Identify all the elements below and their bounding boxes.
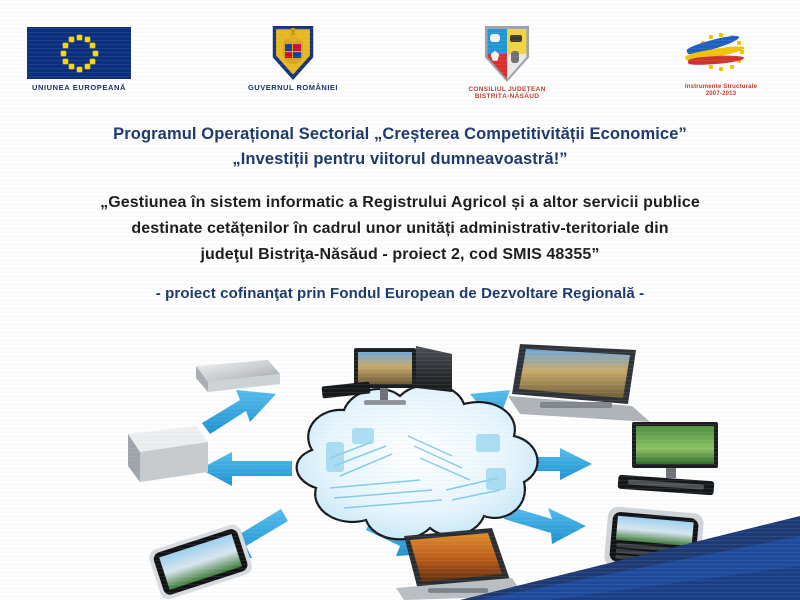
romanian-coat-of-arms-icon (270, 26, 316, 80)
project-title: „Gestiunea în sistem informatic a Regist… (0, 190, 800, 268)
logo-government-romania: GUVERNUL ROMÂNIEI (218, 26, 368, 93)
eu-star (77, 35, 82, 40)
cofinancing-note: - proiect cofinanţat prin Fondul Europea… (0, 285, 800, 302)
project-title-line1: „Gestiunea în sistem informatic a Regist… (0, 190, 800, 216)
eu-star (61, 51, 66, 56)
device-laptop-top-right (508, 344, 650, 422)
structural-star (730, 65, 734, 69)
logo-county-caption-line2: BISTRIȚA-NĂSĂUD (468, 93, 545, 100)
quarter-4 (293, 52, 301, 59)
county-charge-figure (511, 51, 519, 63)
structural-star (709, 65, 713, 69)
eu-star (93, 51, 98, 56)
eu-star (69, 64, 74, 69)
logo-government-caption: GUVERNUL ROMÂNIEI (248, 84, 338, 93)
eu-star (77, 67, 82, 72)
arrow-left (200, 452, 292, 486)
quarter-3 (285, 52, 293, 59)
logo-eu: UNIUNEA EUROPEANĂ (4, 26, 154, 93)
device-external-drive (196, 360, 280, 392)
logo-structural-caption-line1: Instrumente Structurale (685, 84, 757, 91)
arms-quarters (285, 44, 302, 58)
eu-star (63, 59, 68, 64)
arrow-up-left (202, 390, 276, 434)
device-smartphone-left (147, 522, 254, 600)
quarter-2 (293, 44, 301, 51)
eu-flag-icon (26, 26, 132, 80)
county-charge-bridge (490, 34, 501, 42)
logo-structural-instruments: Instrumente Structurale 2007-2013 (646, 26, 796, 98)
eu-star (69, 37, 74, 42)
logo-structural-caption-line2: 2007-2013 (685, 91, 757, 98)
eu-star (90, 59, 95, 64)
programme-title-line2: „Investiții pentru viitorul dumneavoastr… (0, 147, 800, 172)
programme-title: Programul Operațional Sectorial „Creșter… (0, 122, 800, 172)
structural-star (709, 35, 713, 39)
county-charge-wheat (510, 35, 522, 42)
programme-title-line1: Programul Operațional Sectorial „Creșter… (0, 122, 800, 147)
logo-county-council: CONSILIUL JUDEȚEAN BISTRIȚA-NĂSĂUD (432, 26, 582, 101)
corner-band (460, 480, 800, 600)
project-title-line3: judeţul Bistriţa-Năsăud - proiect 2, cod… (0, 242, 800, 268)
logo-county-caption: CONSILIUL JUDEȚEAN BISTRIȚA-NĂSĂUD (468, 86, 545, 101)
project-title-line2: destinate cetățenilor în cadrul unor uni… (0, 216, 800, 242)
logo-eu-caption: UNIUNEA EUROPEANĂ (32, 84, 126, 93)
bistrita-nasaud-county-shield-icon (483, 26, 531, 82)
structural-star (737, 41, 741, 45)
device-server-box (128, 426, 208, 482)
eu-star (85, 37, 90, 42)
quarter-1 (285, 44, 293, 51)
eu-star (90, 43, 95, 48)
structural-instruments-swoosh-icon (673, 26, 769, 80)
eu-star (85, 64, 90, 69)
logo-structural-caption: Instrumente Structurale 2007-2013 (685, 84, 757, 98)
structural-star (719, 67, 723, 71)
eu-star (63, 43, 68, 48)
slide-root: UNIUNEA EUROPEANĂ GUVERNUL ROMÂNIEI (0, 0, 800, 600)
eagle-cross (291, 28, 295, 34)
logo-bar: UNIUNEA EUROPEANĂ GUVERNUL ROMÂNIEI (0, 26, 800, 108)
structural-star (719, 33, 723, 37)
